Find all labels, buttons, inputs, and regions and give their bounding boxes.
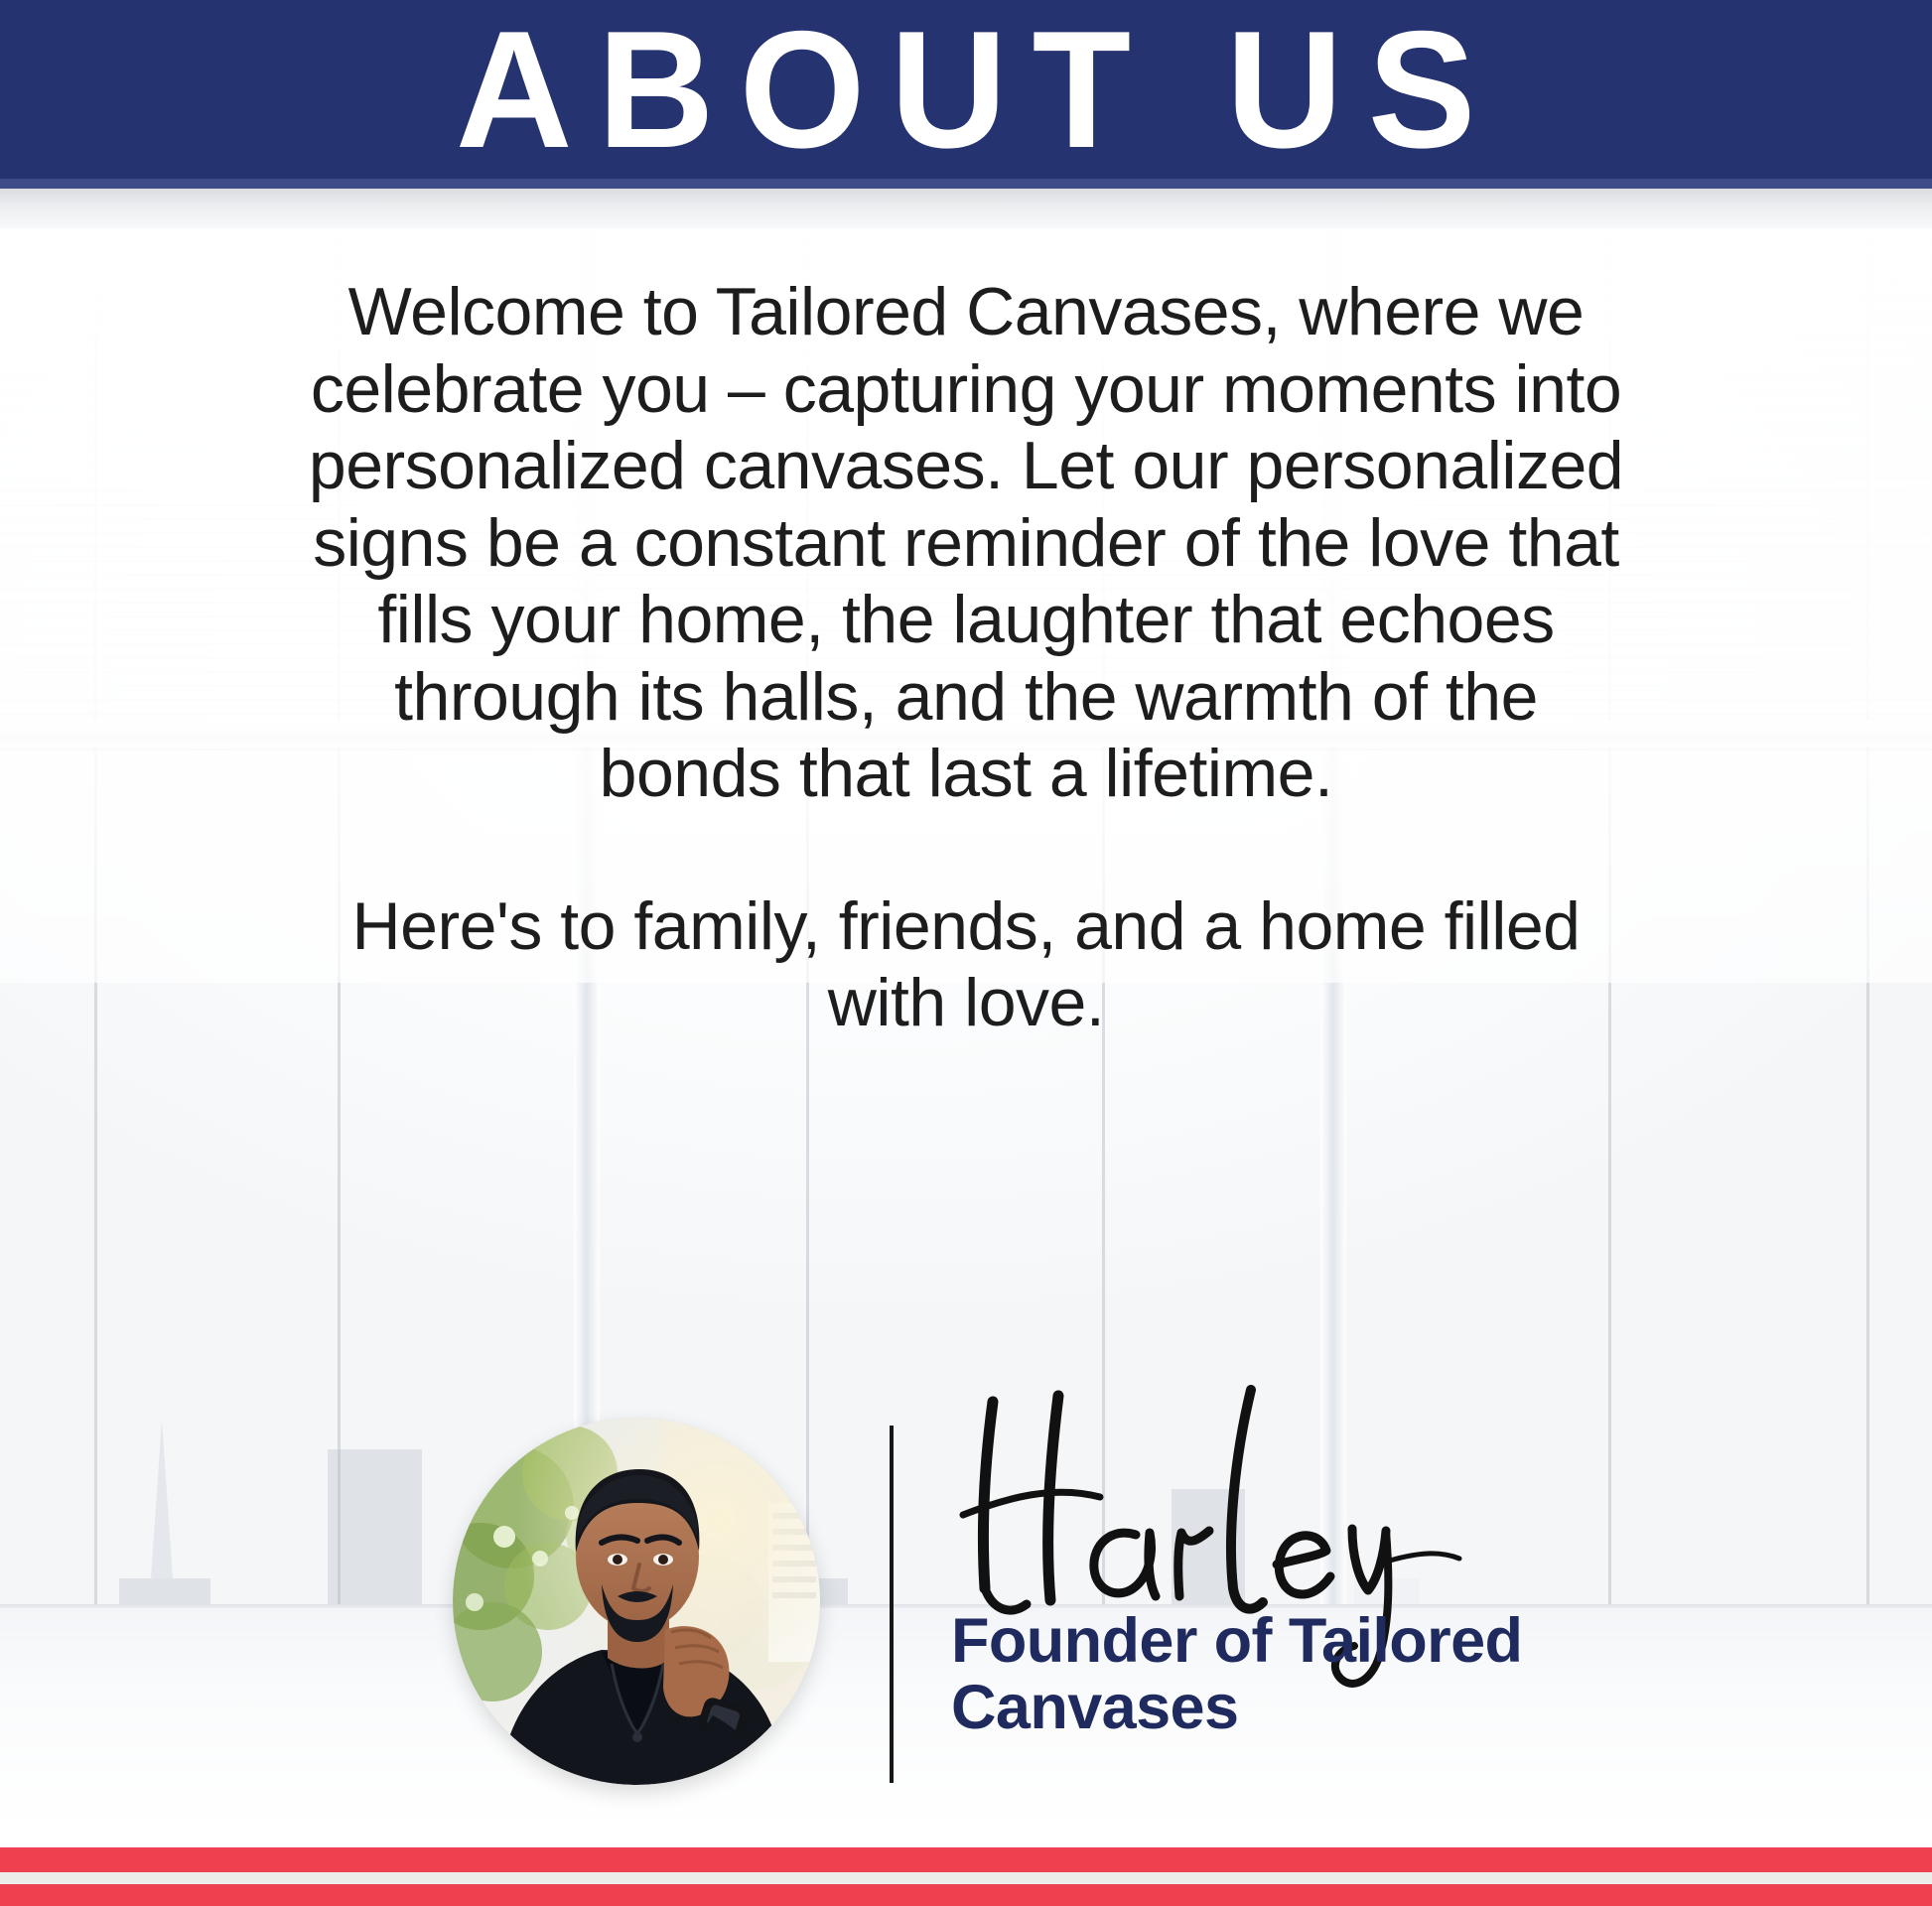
about-paragraph-2: Here's to family, friends, and a home fi… — [0, 888, 1932, 1042]
signature-role: Founder of Tailored Canvases — [951, 1608, 1706, 1741]
footer-bar-gap — [0, 1872, 1932, 1884]
footer-bar-bottom — [0, 1884, 1932, 1906]
page-title: ABOUT US — [431, 6, 1501, 173]
header-banner: ABOUT US — [0, 0, 1932, 179]
about-copy: Welcome to Tailored Canvases, where we c… — [0, 274, 1932, 1042]
about-us-card: ABOUT US Welcome to Tailored Canvases, w… — [0, 0, 1932, 1906]
footer-bar-top — [0, 1847, 1932, 1872]
about-paragraph-1: Welcome to Tailored Canvases, where we c… — [0, 274, 1932, 813]
header-rule — [0, 179, 1932, 189]
paragraph-spacer — [0, 813, 1932, 888]
avatar — [453, 1418, 820, 1785]
signature-divider — [890, 1426, 894, 1783]
signature-role-line-2: Canvases — [951, 1675, 1706, 1741]
signature-role-line-1: Founder of Tailored — [951, 1608, 1706, 1675]
signature-block: Founder of Tailored Canvases — [0, 1410, 1932, 1827]
header-shadow — [0, 189, 1932, 228]
